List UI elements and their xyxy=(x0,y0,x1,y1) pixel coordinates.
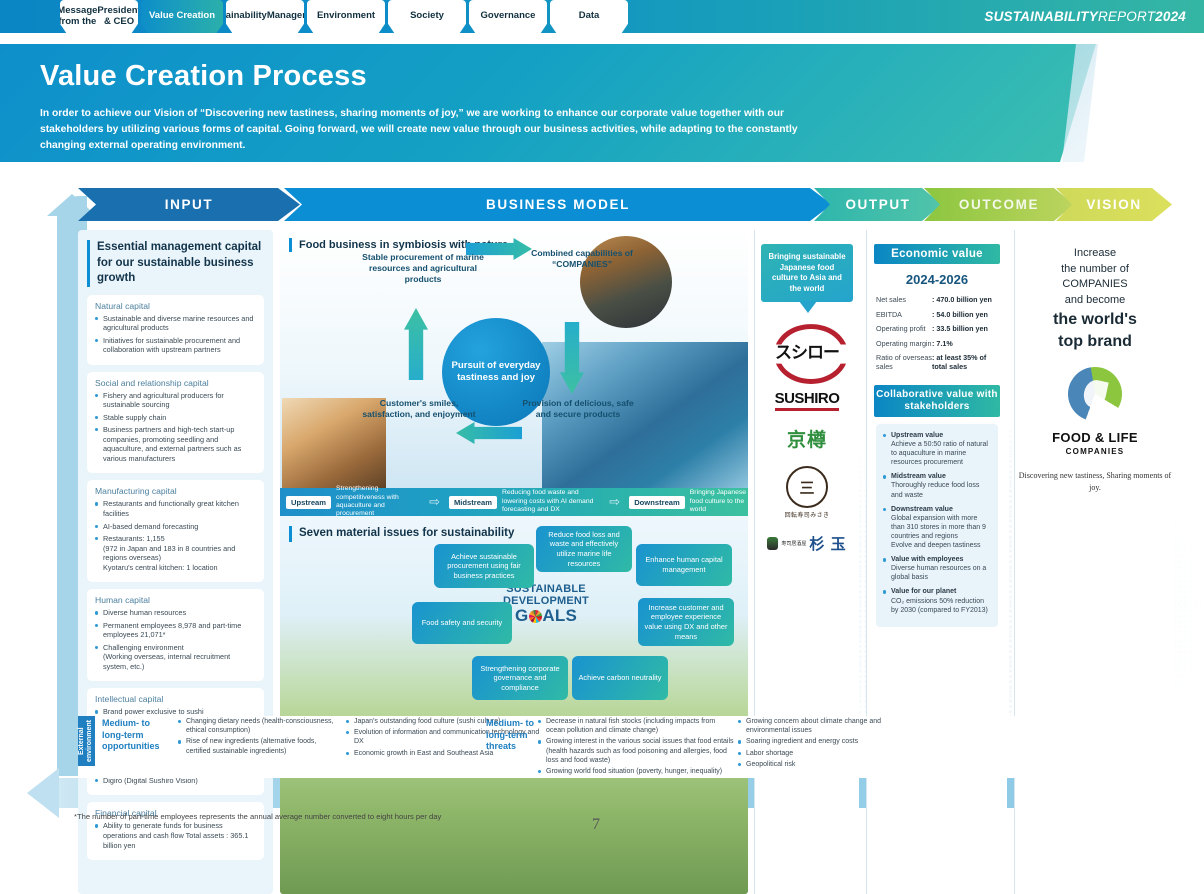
capital-card-item: Business partners and high-tech start-up… xyxy=(95,425,256,464)
misaki-mark-icon: 三 xyxy=(786,466,828,508)
nav-tab-label: Environment xyxy=(317,11,375,21)
vision-big-line-1: the world's xyxy=(1021,310,1169,329)
nav-tab-message-from-the-president-ceo[interactable]: Message from thePresident & CEO xyxy=(60,0,138,33)
vision-line-3: COMPANIES xyxy=(1062,278,1127,290)
financial-target-row: Operating margin: 7.1% xyxy=(876,339,998,348)
cycle-label-top-left: Stable procurement of marine resources a… xyxy=(358,252,488,286)
capital-card-list: Diverse human resourcesPermanent employe… xyxy=(95,608,256,672)
capital-card-item: Ability to generate funds for business o… xyxy=(95,821,256,850)
collaborative-value-item-head: Value for our planet xyxy=(891,588,956,595)
nav-tab-sustainability-management[interactable]: SustainabilityManagement xyxy=(226,0,304,33)
financial-target-row: Net sales: 470.0 billion yen xyxy=(876,295,998,304)
financial-target-value: : at least 35% of total sales xyxy=(932,353,998,371)
capital-card-item: Restaurants and functionally great kitch… xyxy=(95,499,256,519)
material-issue-box: Achieve carbon neutrality xyxy=(572,656,668,700)
phase-business-model: BUSINESS MODEL xyxy=(284,188,832,221)
external-environment-section: External environment Medium- to long-ter… xyxy=(78,716,1158,778)
opportunity-item: Rise of new ingredients (alternative foo… xyxy=(178,737,338,755)
capital-card-title: Intellectual capital xyxy=(95,694,256,704)
collaborative-value-items: Upstream valueAchieve a 50:50 ratio of n… xyxy=(883,431,991,615)
misaki-name: 回転寿司みさき xyxy=(785,510,830,519)
opportunity-item: Changing dietary needs (health-conscious… xyxy=(178,717,338,735)
threats-column-2: Growing concern about climate change and… xyxy=(738,717,898,771)
capital-card-list: Ability to generate funds for business o… xyxy=(95,821,256,850)
threat-item: Labor shortage xyxy=(738,749,898,758)
vision-line-2: the number of xyxy=(1061,263,1129,275)
stream-stage-pill: Midstream xyxy=(449,496,497,509)
phase-output: OUTPUT xyxy=(814,188,942,221)
sushiro-english-logo: SUSHIRO xyxy=(775,390,840,411)
capital-card-list: Restaurants and functionally great kitch… xyxy=(95,499,256,572)
nav-tab-label: Data xyxy=(579,11,600,21)
input-column: Essential management capital for our sus… xyxy=(78,230,273,894)
page-description: In order to achieve our Vision of “Disco… xyxy=(40,106,810,154)
phase-outcome: OUTCOME xyxy=(924,188,1074,221)
capital-card-item: Challenging environment(Working overseas… xyxy=(95,643,256,672)
financial-target-label: EBITDA xyxy=(876,310,932,319)
opportunities-column-1: Changing dietary needs (health-conscious… xyxy=(178,717,338,758)
input-heading: Essential management capital for our sus… xyxy=(87,240,264,287)
material-issue-box: Strengthening corporate governance and c… xyxy=(472,656,568,700)
material-issues-panel: Seven material issues for sustainability… xyxy=(280,516,748,894)
material-issue-box: Increase customer and employee experienc… xyxy=(638,598,734,646)
collaborative-value-item-head: Midstream value xyxy=(891,473,946,480)
company-tagline: Discovering new tastiness, Sharing momen… xyxy=(1015,470,1175,494)
cycle-label-top-right: Combined capabilities of “COMPANIES” xyxy=(526,248,638,270)
material-issue-box: Food safety and security xyxy=(412,602,512,644)
capital-card-list: Sustainable and diverse marine resources… xyxy=(95,314,256,356)
value-chain-stream-bar: UpstreamStrengthening competitiveness wi… xyxy=(280,488,748,516)
sdg-g: G xyxy=(515,607,528,626)
capital-card-item: Sustainable and diverse marine resources… xyxy=(95,314,256,334)
page-number: 7 xyxy=(592,816,600,834)
material-issue-box: Reduce food loss and waste and effective… xyxy=(536,526,632,572)
phase-vision: VISION xyxy=(1056,188,1172,221)
financial-target-value: : 7.1% xyxy=(932,339,953,348)
nav-tabs: Message from thePresident & CEOValue Cre… xyxy=(60,0,631,33)
value-creation-diagram: INPUT BUSINESS MODEL OUTPUT OUTCOME VISI… xyxy=(72,188,1162,788)
sdg-logo: SUSTAINABLE DEVELOPMENT GALS xyxy=(502,584,590,626)
capital-card: Natural capitalSustainable and diverse m… xyxy=(87,295,264,365)
collaborative-value-item: Value for our planetCO₂ emissions 50% re… xyxy=(883,587,991,614)
financial-target-label: Operating margin xyxy=(876,339,932,348)
stream-arrow-icon: ⇨ xyxy=(429,494,440,510)
company-name: FOOD & LIFE xyxy=(1015,430,1175,445)
nav-tab-society[interactable]: Society xyxy=(388,0,466,33)
financial-target-label: Net sales xyxy=(876,295,932,304)
brand-thin: REPORT xyxy=(1098,9,1155,24)
nav-tab-label: Society xyxy=(410,11,444,21)
capital-card-title: Manufacturing capital xyxy=(95,486,256,496)
capital-card-item: Fishery and agricultural producers for s… xyxy=(95,391,256,411)
top-navigation-bar: Message from thePresident & CEOValue Cre… xyxy=(0,0,1204,33)
sdg-als: ALS xyxy=(542,607,577,626)
page-title: Value Creation Process xyxy=(40,60,367,93)
collaborative-value-item-head: Value with employees xyxy=(891,556,963,563)
capital-card-title: Social and relationship capital xyxy=(95,378,256,388)
capital-card-item: Restaurants: 1,155(972 in Japan and 183 … xyxy=(95,534,256,573)
collaborative-value-item: Midstream valueThoroughly reduce food lo… xyxy=(883,472,991,499)
output-callout: Bringing sustainable Japanese food cultu… xyxy=(761,244,853,302)
brand-logos: スシロー SUSHIRO 京樽 三 回転寿司みさき 寿司居酒屋 杉 玉 xyxy=(755,324,859,554)
capital-card-item: AI-based demand forecasting xyxy=(95,522,256,532)
vision-statement: Increase the number of COMPANIES and bec… xyxy=(1021,246,1169,351)
sugitama-small-text: 寿司居酒屋 xyxy=(781,540,806,547)
cycle-arrow-left-icon xyxy=(404,308,428,380)
kyotaru-logo: 京樽 xyxy=(787,425,827,452)
external-environment-tab: External environment xyxy=(78,716,95,766)
nav-tab-label: Message from the xyxy=(57,6,97,27)
seven-material-issues-heading: Seven material issues for sustainability xyxy=(289,526,514,542)
economic-value-title: Economic value xyxy=(874,244,1000,264)
stream-stage-text: Bringing Japanese food culture to the wo… xyxy=(690,489,748,514)
brand-bold-2: 2024 xyxy=(1155,9,1186,24)
financial-target-row: EBITDA: 54.0 billion yen xyxy=(876,310,998,319)
material-issue-box: Enhance human capital management xyxy=(636,544,732,586)
capital-card-item: Stable supply chain xyxy=(95,413,256,423)
financial-target-value: : 33.5 billion yen xyxy=(932,324,988,333)
opportunities-label: Medium- to long-term opportunities xyxy=(102,718,174,753)
material-issue-box: Achieve sustainable procurement using fa… xyxy=(434,544,534,588)
output-column: Bringing sustainable Japanese food cultu… xyxy=(754,230,859,894)
financial-target-row: Ratio of overseas sales: at least 35% of… xyxy=(876,353,998,371)
report-brand-label: SUSTAINABILITY REPORT 2024 xyxy=(984,0,1186,33)
sdg-line-3: GALS xyxy=(502,607,590,626)
capital-card-item: Initiatives for sustainable procurement … xyxy=(95,336,256,356)
stream-stage-text: Strengthening competitiveness with aquac… xyxy=(336,485,424,519)
threat-item: Geopolitical risk xyxy=(738,760,898,769)
stream-stage-pill: Upstream xyxy=(286,496,331,509)
company-name-sub: COMPANIES xyxy=(1015,447,1175,456)
capital-card-list: Fishery and agricultural producers for s… xyxy=(95,391,256,464)
capital-card-title: Natural capital xyxy=(95,301,256,311)
vision-big-line-2: top brand xyxy=(1021,332,1169,351)
sdg-color-wheel-icon xyxy=(529,610,542,623)
capital-card: Manufacturing capitalRestaurants and fun… xyxy=(87,480,264,582)
outcome-column: Economic value 2024-2026 Net sales: 470.… xyxy=(866,230,1007,894)
threat-item: Soaring ingredient and energy costs xyxy=(738,737,898,746)
sugitama-logo: 寿司居酒屋 杉 玉 xyxy=(767,533,846,554)
nav-tab-label: Value Creation xyxy=(149,11,215,21)
food-and-life-logo-icon xyxy=(1068,367,1122,421)
collaborative-value-item-head: Downstream value xyxy=(891,506,953,513)
vision-line-1: Increase xyxy=(1074,247,1116,259)
collaborative-value-item-head: Upstream value xyxy=(891,432,943,439)
collaborative-value-item: Upstream valueAchieve a 50:50 ratio of n… xyxy=(883,431,991,467)
phase-input: INPUT xyxy=(78,188,300,221)
vision-line-4: and become xyxy=(1065,294,1126,306)
footnote: *The number of part-time employees repre… xyxy=(74,812,441,821)
collaborative-value-item: Value with employeesDiverse human resour… xyxy=(883,555,991,582)
nav-tab-environment[interactable]: Environment xyxy=(307,0,385,33)
external-environment-tab-label: External environment xyxy=(78,716,94,766)
stream-stage-pill: Downstream xyxy=(629,496,685,509)
economic-value-period: 2024-2026 xyxy=(867,272,1007,287)
capital-card: Social and relationship capitalFishery a… xyxy=(87,372,264,474)
stream-arrow-icon: ⇨ xyxy=(609,494,620,510)
cycle-label-bottom-right: Provision of delicious, safe and secure … xyxy=(520,398,636,420)
capital-card: Human capitalDiverse human resourcesPerm… xyxy=(87,589,264,681)
collaborative-value-title: Collaborative value with stakeholders xyxy=(874,385,1000,417)
threat-item: Growing concern about climate change and… xyxy=(738,717,898,735)
threat-item: Growing world food situation (poverty, h… xyxy=(538,767,736,776)
nav-tab-value-creation[interactable]: Value Creation xyxy=(141,0,223,33)
collaborative-value-item: Downstream valueGlobal expansion with mo… xyxy=(883,505,991,550)
capital-card-item: Permanent employees 8,978 and part-time … xyxy=(95,621,256,641)
vision-column: Increase the number of COMPANIES and bec… xyxy=(1014,230,1175,894)
threat-item: Growing interest in the various social i… xyxy=(538,737,736,765)
financial-target-label: Operating profit xyxy=(876,324,932,333)
cycle-label-bottom-left: Customer's smiles, satisfaction, and enj… xyxy=(356,398,482,420)
collaborative-value-list: Upstream valueAchieve a 50:50 ratio of n… xyxy=(876,424,998,627)
financial-target-label: Ratio of overseas sales xyxy=(876,353,932,371)
sushi-icon xyxy=(767,537,778,550)
page-title-banner: Value Creation Process In order to achie… xyxy=(0,44,1096,162)
misaki-logo: 三 回転寿司みさき xyxy=(785,466,830,519)
nav-tab-label: President & CEO xyxy=(97,6,140,27)
financial-target-row: Operating profit: 33.5 billion yen xyxy=(876,324,998,333)
threats-column-1: Decrease in natural fish stocks (includi… xyxy=(538,717,736,778)
brand-bold-1: SUSTAINABILITY xyxy=(984,9,1098,24)
nav-tab-governance[interactable]: Governance xyxy=(469,0,547,33)
financial-target-value: : 54.0 billion yen xyxy=(932,310,988,319)
capital-card: Financial capitalAbility to generate fun… xyxy=(87,802,264,860)
capital-card-item: Diverse human resources xyxy=(95,608,256,618)
capital-card-title: Human capital xyxy=(95,595,256,605)
sugitama-name: 杉 玉 xyxy=(809,533,846,554)
business-model-column: Food business in symbiosis with nature P… xyxy=(280,230,748,894)
financial-targets-list: Net sales: 470.0 billion yenEBITDA: 54.0… xyxy=(876,295,998,371)
sushiro-japanese-logo: スシロー xyxy=(770,324,844,376)
threat-item: Decrease in natural fish stocks (includi… xyxy=(538,717,736,735)
financial-target-value: : 470.0 billion yen xyxy=(932,295,992,304)
stream-stage-text: Reducing food waste and lowering costs w… xyxy=(502,489,604,514)
sushiro-japanese-text: スシロー xyxy=(775,338,839,363)
nav-tab-label: Governance xyxy=(481,11,536,21)
business-model-cycle: Food business in symbiosis with nature P… xyxy=(280,230,748,488)
nav-tab-data[interactable]: Data xyxy=(550,0,628,33)
